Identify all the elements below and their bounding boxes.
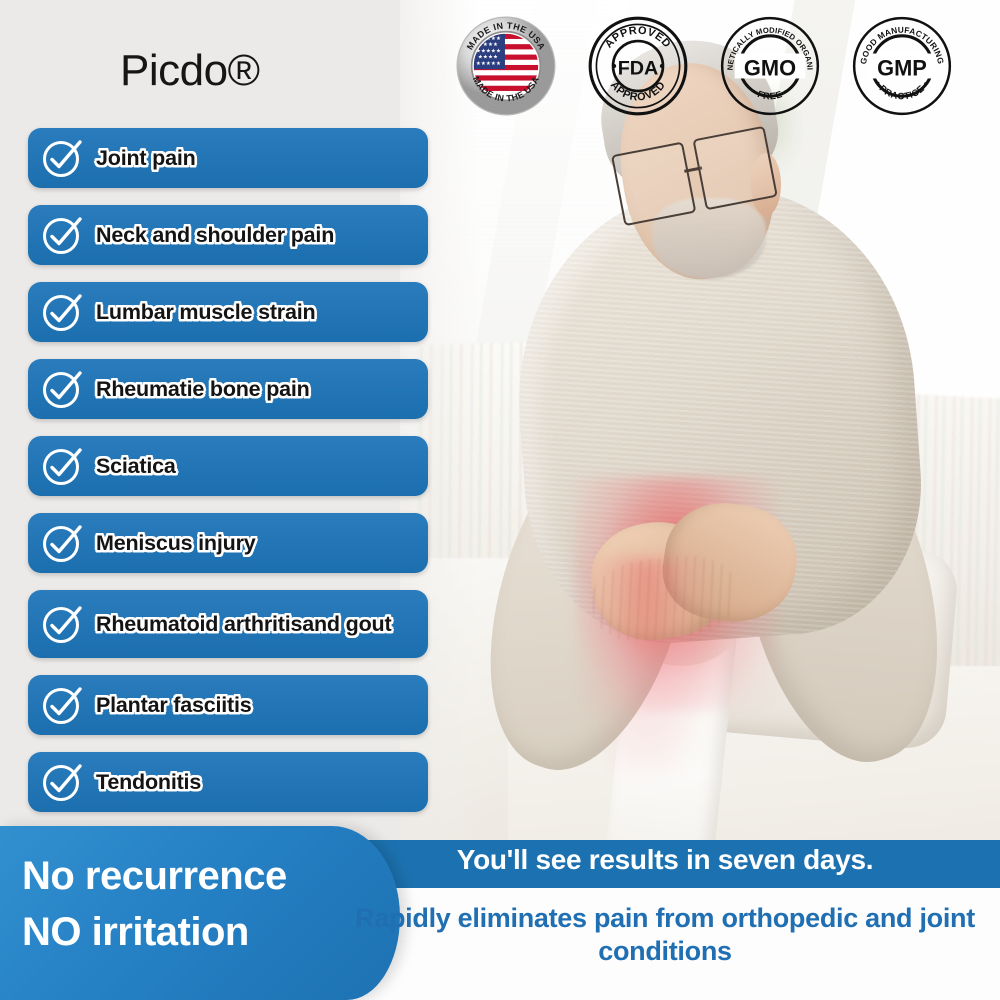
- check-circle-icon: [40, 444, 84, 488]
- svg-text:APPROVED: APPROVED: [603, 25, 673, 51]
- banner-subtext: Rapidly eliminates pain from orthopedic …: [340, 902, 990, 968]
- banner-left-line1: No recurrence: [22, 854, 287, 899]
- svg-text:• PRACTICE •: • PRACTICE •: [873, 79, 931, 101]
- brand-name: Picdo®: [120, 46, 259, 96]
- condition-label: Lumbar muscle strain: [96, 300, 315, 324]
- condition-label: Meniscus injury: [96, 531, 256, 555]
- condition-label: Rheumatoid arthritisand gout: [96, 612, 391, 636]
- condition-pill[interactable]: Rheumatoid arthritisand gout: [28, 590, 428, 658]
- made-in-usa-badge: ★★★★★★★★★ ★★★★★★★★★ ★★★★★ MADE IN THE US…: [452, 14, 560, 118]
- badge-center-label: GMP: [877, 55, 927, 80]
- gmp-badge: GMP GOOD MANUFACTURING • PRACTICE •: [848, 14, 956, 118]
- conditions-list: Joint pain Neck and shoulder pain Lumbar…: [28, 128, 428, 829]
- condition-pill[interactable]: Lumbar muscle strain: [28, 282, 428, 342]
- svg-text:★★★★★: ★★★★★: [476, 47, 501, 54]
- check-circle-icon: [40, 683, 84, 727]
- condition-label: Rheumatie bone pain: [96, 377, 310, 401]
- check-circle-icon: [40, 602, 84, 646]
- condition-pill[interactable]: Neck and shoulder pain: [28, 205, 428, 265]
- condition-label: Joint pain: [96, 146, 196, 170]
- gmo-free-badge: GMO GENETICALLY MODIFIED ORGANISM • FREE…: [716, 14, 824, 118]
- badge-top-arc: APPROVED: [603, 25, 673, 51]
- check-circle-icon: [40, 760, 84, 804]
- condition-pill[interactable]: Joint pain: [28, 128, 428, 188]
- badge-bottom-arc: • PRACTICE •: [873, 79, 931, 101]
- banner-left-line2: NO irritation: [22, 910, 249, 955]
- condition-label: Tendonitis: [96, 770, 201, 794]
- check-circle-icon: [40, 521, 84, 565]
- svg-text:★★★★★: ★★★★★: [476, 60, 501, 67]
- condition-label: Plantar fasciitis: [96, 693, 252, 717]
- svg-text:★★★★: ★★★★: [478, 54, 498, 61]
- check-circle-icon: [40, 367, 84, 411]
- badge-bottom-arc: • FREE •: [750, 86, 790, 101]
- check-circle-icon: [40, 213, 84, 257]
- product-infographic-poster: ★★★★★★★★★ ★★★★★★★★★ ★★★★★ MADE IN THE US…: [0, 0, 1000, 1000]
- certification-badges: ★★★★★★★★★ ★★★★★★★★★ ★★★★★ MADE IN THE US…: [452, 14, 992, 120]
- knee-pain-glow-lower: [586, 558, 706, 774]
- svg-text:• FREE •: • FREE •: [750, 86, 790, 101]
- condition-pill[interactable]: Plantar fasciitis: [28, 675, 428, 735]
- badge-center-label: FDA: [618, 57, 659, 79]
- fda-approved-badge: FDA APPROVED APPROVED: [584, 14, 692, 118]
- check-circle-icon: [40, 290, 84, 334]
- bottom-banner: No recurrence NO irritation You'll see r…: [0, 826, 1000, 1000]
- condition-pill[interactable]: Rheumatie bone pain: [28, 359, 428, 419]
- condition-pill[interactable]: Sciatica: [28, 436, 428, 496]
- banner-headline: You'll see results in seven days.: [330, 844, 1000, 876]
- condition-pill[interactable]: Meniscus injury: [28, 513, 428, 573]
- badge-center-label: GMO: [744, 55, 796, 80]
- condition-label: Sciatica: [96, 454, 176, 478]
- condition-pill[interactable]: Tendonitis: [28, 752, 428, 812]
- product-photo: [400, 0, 1000, 900]
- condition-label: Neck and shoulder pain: [96, 223, 334, 247]
- check-circle-icon: [40, 136, 84, 180]
